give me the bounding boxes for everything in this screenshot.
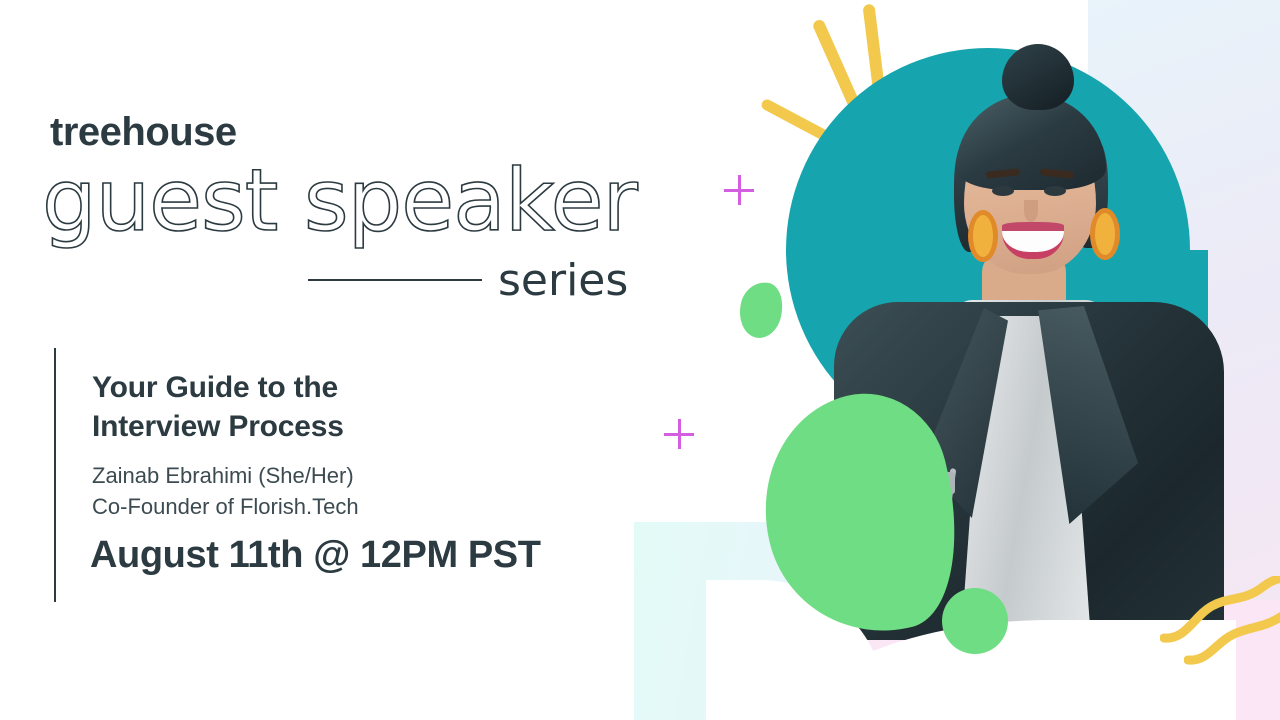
headline-series-word: series: [498, 255, 628, 306]
speaker-info: Zainab Ebrahimi (She/Her) Co-Founder of …: [92, 460, 552, 522]
talk-title-line-2: Interview Process: [92, 407, 522, 446]
portrait-eye-right: [1044, 186, 1066, 196]
portrait-earring-left: [968, 210, 998, 262]
promo-slide: treehouse guest speaker series Your Guid…: [0, 0, 1280, 720]
detail-divider-rule: [54, 348, 56, 602]
portrait-upper-lip: [1002, 222, 1064, 231]
green-circle: [942, 588, 1008, 654]
portrait-eye-left: [992, 186, 1014, 196]
portrait-earring-right: [1090, 208, 1120, 260]
talk-title: Your Guide to the Interview Process: [92, 368, 522, 446]
plus-icon: [664, 419, 694, 449]
event-datetime: August 11th @ 12PM PST: [90, 534, 541, 577]
speaker-name: Zainab Ebrahimi (She/Her): [92, 460, 552, 491]
green-blob-small: [735, 278, 788, 342]
brand-wordmark: treehouse: [50, 110, 237, 155]
speaker-role: Co-Founder of Florish.Tech: [92, 491, 552, 522]
yellow-squiggle-icon: [1184, 608, 1280, 668]
portrait-nose: [1024, 200, 1038, 222]
headline-outline-text: guest speaker: [42, 158, 637, 244]
talk-title-line-1: Your Guide to the: [92, 368, 522, 407]
plus-icon: [724, 175, 754, 205]
headline-divider-rule: [308, 279, 482, 281]
portrait-hair-bun: [1002, 44, 1074, 110]
